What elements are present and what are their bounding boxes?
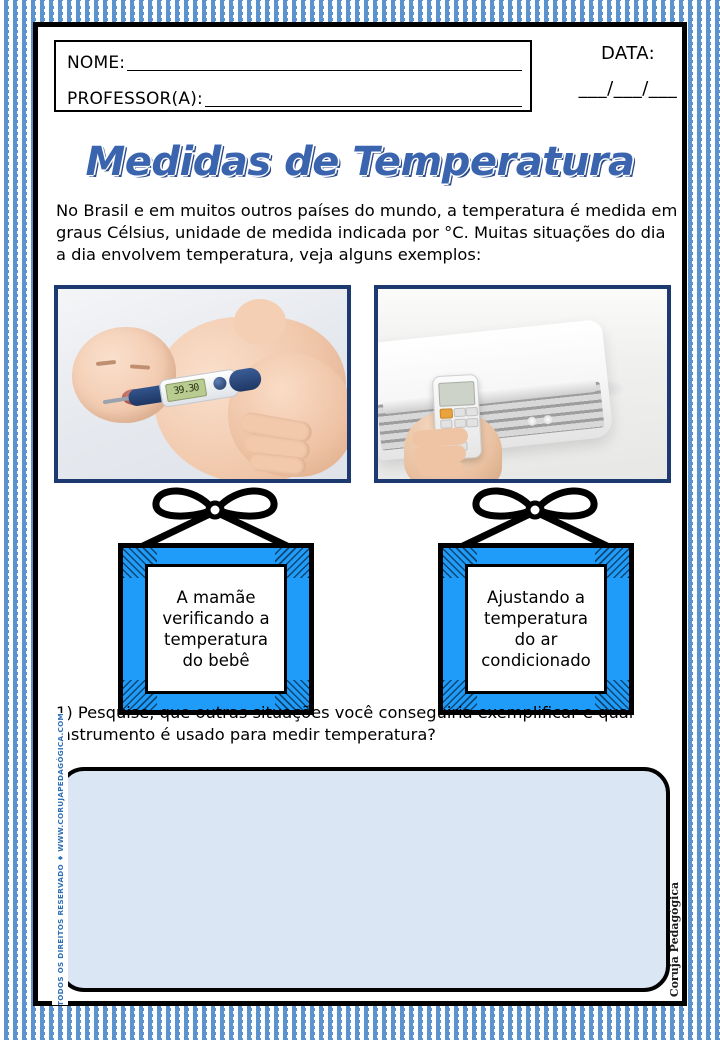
picture-frame: A mamãe verificando a temperatura do beb… [118,543,314,715]
teacher-write-line[interactable] [205,106,522,107]
brand-watermark-right: Coruja Pedagógica [666,880,684,998]
name-write-line[interactable] [127,70,522,71]
remote-power-button [440,408,454,419]
teacher-label: PROFESSOR(A): [67,89,203,114]
intro-paragraph: No Brasil e em muitos outros países do m… [56,200,678,266]
caption-label: A mamãe verificando a temperatura do beb… [148,587,284,671]
baby-thermometer-photo: 39.30 [54,285,351,483]
caption-unit-baby: A mamãe verificando a temperatura do beb… [100,479,330,719]
name-field-row[interactable]: NOME: [56,42,530,78]
question-1-answer-box[interactable] [58,767,670,992]
date-block: DATA: ___/___/___ [558,43,698,99]
caption-unit-air-conditioner: Ajustando a temperatura do ar condiciona… [420,479,650,719]
hand-finger [418,461,464,476]
frame-mat: Ajustando a temperatura do ar condiciona… [465,564,607,694]
air-conditioner-photo [374,285,671,483]
brand-watermark-right-text: Coruja Pedagógica [669,881,682,996]
caption-label: Ajustando a temperatura do ar condiciona… [468,587,604,671]
date-label: DATA: [558,43,698,64]
remote-lcd-screen [438,381,475,407]
teacher-field-row[interactable]: PROFESSOR(A): [56,78,530,114]
page-title: Medidas de Temperatura [38,139,682,185]
copyright-watermark-left: TODOS OS DIREITOS RESERVADO ♦ WWW.CORUJA… [52,713,68,1005]
name-label: NOME: [67,53,125,78]
copyright-watermark-left-text: TODOS OS DIREITOS RESERVADO ♦ WWW.CORUJA… [56,713,65,1005]
picture-frame: Ajustando a temperatura do ar condiciona… [438,543,634,715]
date-write-slots[interactable]: ___/___/___ [558,78,698,99]
worksheet-sheet: NOME: PROFESSOR(A): DATA: ___/___/___ Me… [33,22,687,1006]
student-identification-box: NOME: PROFESSOR(A): [54,40,532,112]
frame-mat: A mamãe verificando a temperatura do beb… [145,564,287,694]
remote-button [466,418,478,428]
question-1-text: 1) Pesquise, que outras situações você c… [56,702,680,746]
baby-arm [234,299,286,345]
remote-button [466,407,478,417]
remote-button [454,408,466,418]
